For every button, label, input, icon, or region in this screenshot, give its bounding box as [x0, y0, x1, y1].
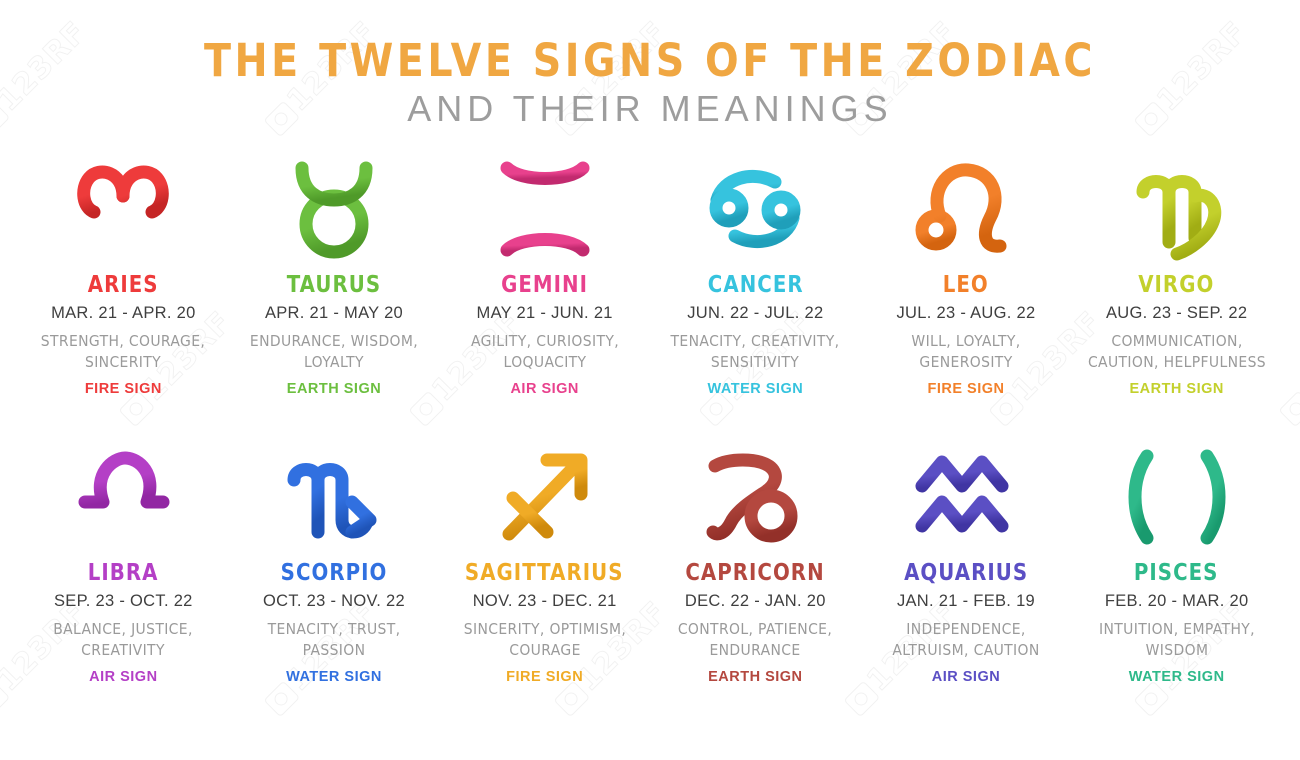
- pisces-symbol: [1117, 437, 1237, 555]
- zodiac-infographic: 123RF123RF123RF123RF123RF123RF123RF123RF…: [0, 0, 1300, 760]
- zodiac-grid: ARIESMAR. 21 - APR. 20STRENGTH, COURAGE,…: [0, 127, 1300, 725]
- sign-dates: MAY 21 - JUN. 21: [477, 304, 613, 322]
- aquarius-symbol: [906, 437, 1026, 555]
- taurus-symbol: [274, 149, 394, 267]
- sagittarius-symbol: [485, 437, 605, 555]
- sign-dates: JUN. 22 - JUL. 22: [687, 304, 823, 322]
- sign-dates: APR. 21 - MAY 20: [265, 304, 403, 322]
- leo-symbol: [906, 149, 1026, 267]
- zodiac-card[interactable]: PISCESFEB. 20 - MAR. 20INTUITION, EMPATH…: [1071, 437, 1282, 725]
- sign-traits: ENDURANCE, WISDOM, LOYALTY: [239, 331, 428, 372]
- sign-name: AQUARIUS: [904, 561, 1028, 585]
- zodiac-card[interactable]: CANCERJUN. 22 - JUL. 22TENACITY, CREATIV…: [650, 149, 861, 437]
- sign-name: TAURUS: [287, 273, 381, 297]
- sign-element-badge: FIRE SIGN: [927, 382, 1004, 398]
- sign-dates: AUG. 23 - SEP. 22: [1106, 304, 1247, 322]
- sign-traits: COMMUNICATION, CAUTION, HELPFULNESS: [1082, 331, 1271, 372]
- sign-element-badge: EARTH SIGN: [1129, 382, 1223, 398]
- sign-name: VIRGO: [1139, 273, 1215, 297]
- sign-element-badge: AIR SIGN: [510, 382, 578, 398]
- sign-traits: SINCERITY, OPTIMISM, COURAGE: [450, 619, 639, 660]
- sign-dates: SEP. 23 - OCT. 22: [54, 592, 193, 610]
- sign-name: CAPRICORN: [686, 561, 825, 585]
- sign-name: CANCER: [707, 273, 803, 297]
- sign-dates: FEB. 20 - MAR. 20: [1105, 592, 1249, 610]
- zodiac-card[interactable]: SCORPIOOCT. 23 - NOV. 22TENACITY, TRUST,…: [229, 437, 440, 725]
- zodiac-card[interactable]: TAURUSAPR. 21 - MAY 20ENDURANCE, WISDOM,…: [229, 149, 440, 437]
- sign-traits: WILL, LOYALTY, GENEROSITY: [871, 331, 1060, 372]
- aries-symbol: [63, 149, 183, 267]
- sign-element-badge: WATER SIGN: [286, 670, 382, 686]
- sign-name: PISCES: [1134, 561, 1219, 585]
- page-subtitle: AND THEIR MEANINGS: [0, 91, 1300, 127]
- gemini-symbol: [485, 149, 605, 267]
- sign-traits: INDEPENDENCE, ALTRUISM, CAUTION: [871, 619, 1060, 660]
- sign-element-badge: EARTH SIGN: [708, 670, 802, 686]
- sign-traits: BALANCE, JUSTICE, CREATIVITY: [29, 619, 218, 660]
- sign-traits: AGILITY, CURIOSITY, LOQUACITY: [450, 331, 639, 372]
- header: THE TWELVE SIGNS OF THE ZODIAC AND THEIR…: [0, 0, 1300, 127]
- sign-traits: TENACITY, CREATIVITY, SENSITIVITY: [661, 331, 850, 372]
- libra-symbol: [63, 437, 183, 555]
- sign-traits: STRENGTH, COURAGE, SINCERITY: [29, 331, 218, 372]
- capricorn-symbol: [695, 437, 815, 555]
- sign-name: LEO: [943, 273, 989, 297]
- sign-element-badge: EARTH SIGN: [287, 382, 381, 398]
- zodiac-card[interactable]: GEMINIMAY 21 - JUN. 21AGILITY, CURIOSITY…: [439, 149, 650, 437]
- zodiac-card[interactable]: CAPRICORNDEC. 22 - JAN. 20CONTROL, PATIE…: [650, 437, 861, 725]
- scorpio-symbol: [274, 437, 394, 555]
- sign-name: ARIES: [88, 273, 159, 297]
- sign-element-badge: FIRE SIGN: [85, 382, 162, 398]
- sign-element-badge: AIR SIGN: [932, 670, 1000, 686]
- page-title: THE TWELVE SIGNS OF THE ZODIAC: [78, 38, 1222, 83]
- sign-traits: CONTROL, PATIENCE, ENDURANCE: [661, 619, 850, 660]
- zodiac-card[interactable]: SAGITTARIUSNOV. 23 - DEC. 21SINCERITY, O…: [439, 437, 650, 725]
- sign-traits: TENACITY, TRUST, PASSION: [239, 619, 428, 660]
- sign-dates: JUL. 23 - AUG. 22: [896, 304, 1035, 322]
- zodiac-card[interactable]: LEOJUL. 23 - AUG. 22WILL, LOYALTY, GENER…: [861, 149, 1072, 437]
- sign-name: LIBRA: [88, 561, 159, 585]
- sign-name: SAGITTARIUS: [465, 561, 624, 585]
- virgo-symbol: [1117, 149, 1237, 267]
- sign-dates: DEC. 22 - JAN. 20: [685, 592, 826, 610]
- sign-name: SCORPIO: [281, 561, 388, 585]
- sign-dates: MAR. 21 - APR. 20: [51, 304, 196, 322]
- sign-dates: NOV. 23 - DEC. 21: [473, 592, 617, 610]
- sign-dates: OCT. 23 - NOV. 22: [263, 592, 405, 610]
- zodiac-card[interactable]: ARIESMAR. 21 - APR. 20STRENGTH, COURAGE,…: [18, 149, 229, 437]
- sign-element-badge: WATER SIGN: [1129, 670, 1225, 686]
- sign-element-badge: AIR SIGN: [89, 670, 157, 686]
- sign-name: GEMINI: [501, 273, 588, 297]
- zodiac-card[interactable]: VIRGOAUG. 23 - SEP. 22COMMUNICATION, CAU…: [1071, 149, 1282, 437]
- zodiac-card[interactable]: AQUARIUSJAN. 21 - FEB. 19INDEPENDENCE, A…: [861, 437, 1072, 725]
- zodiac-card[interactable]: LIBRASEP. 23 - OCT. 22BALANCE, JUSTICE, …: [18, 437, 229, 725]
- cancer-symbol: [695, 149, 815, 267]
- sign-traits: INTUITION, EMPATHY, WISDOM: [1082, 619, 1271, 660]
- sign-element-badge: FIRE SIGN: [506, 670, 583, 686]
- sign-dates: JAN. 21 - FEB. 19: [897, 592, 1035, 610]
- sign-element-badge: WATER SIGN: [707, 382, 803, 398]
